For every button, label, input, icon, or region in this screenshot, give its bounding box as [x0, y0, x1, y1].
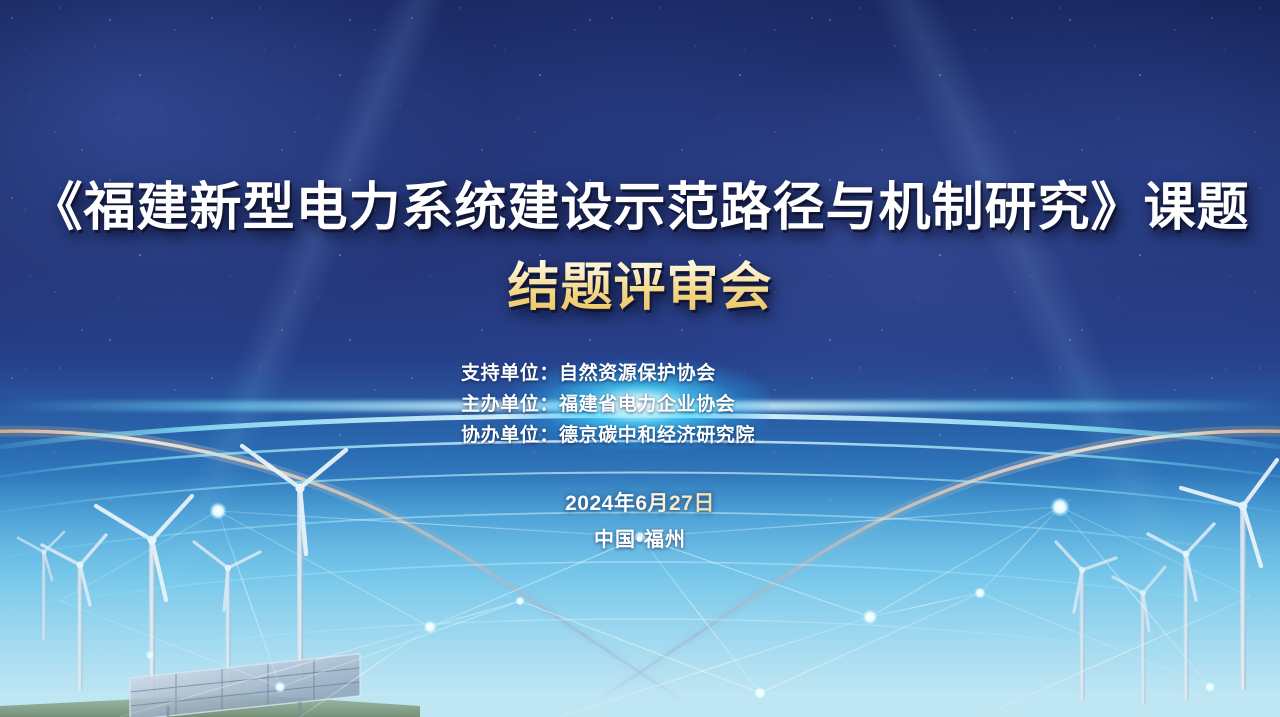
presentation-slide: 《福建新型电力系统建设示范路径与机制研究》课题 结题评审会 支持单位：自然资源保… [0, 0, 1280, 717]
organizer-support: 支持单位：自然资源保护协会 [461, 358, 755, 389]
event-location: 中国•福州 [0, 523, 1280, 552]
event-date: 2024年6月27日 [565, 487, 715, 517]
organizer-host: 主办单位：福建省电力企业协会 [461, 389, 755, 420]
slide-content: 《福建新型电力系统建设示范路径与机制研究》课题 结题评审会 支持单位：自然资源保… [0, 0, 1280, 717]
title-line-2: 结题评审会 [0, 248, 1280, 328]
page-title: 《福建新型电力系统建设示范路径与机制研究》课题 结题评审会 [0, 168, 1280, 328]
event-meta: 2024年6月27日 中国•福州 [0, 487, 1280, 552]
organizer-list: 支持单位：自然资源保护协会 主办单位：福建省电力企业协会 协办单位：德京碳中和经… [461, 358, 755, 451]
title-line-1: 《福建新型电力系统建设示范路径与机制研究》课题 [30, 179, 1249, 237]
organizer-coorganizer: 协办单位：德京碳中和经济研究院 [461, 420, 755, 451]
